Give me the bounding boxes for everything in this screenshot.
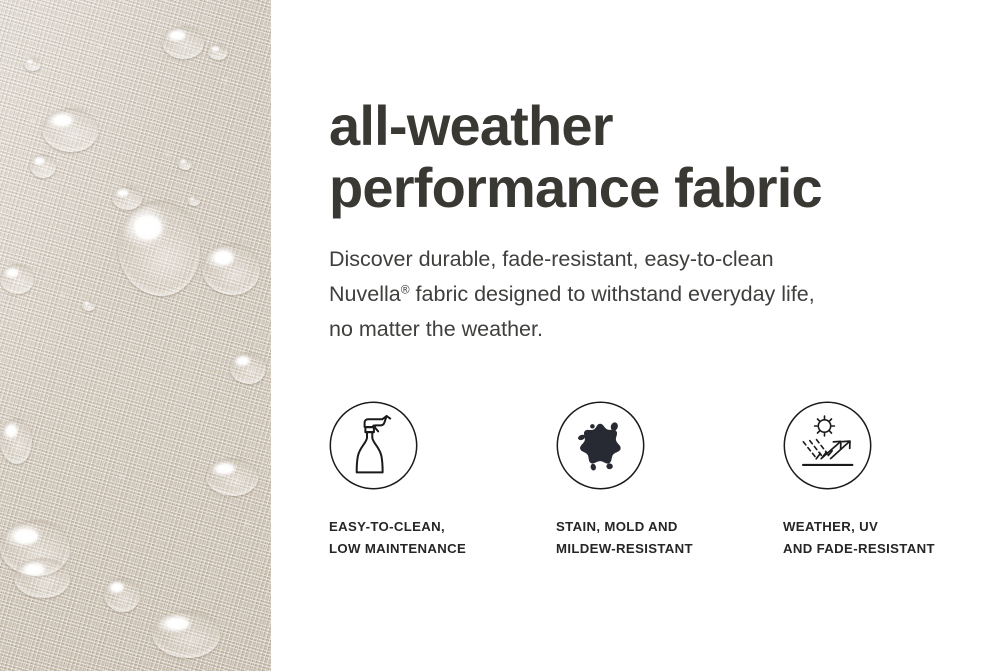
headline-line-1: all-weather — [329, 95, 989, 157]
spray-bottle-icon — [329, 401, 418, 490]
registered-mark: ® — [401, 282, 410, 296]
water-droplet — [202, 243, 260, 295]
feature-caption-line-2: LOW MAINTENANCE — [329, 538, 556, 559]
water-droplet — [14, 558, 70, 598]
feature-caption-line-1: STAIN, MOLD AND — [556, 516, 783, 537]
feature-list: EASY-TO-CLEAN, LOW MAINTENANCE — [329, 346, 989, 559]
water-droplet — [208, 44, 228, 60]
feature-caption: EASY-TO-CLEAN, LOW MAINTENANCE — [329, 490, 556, 559]
feature-stain-resistant: STAIN, MOLD AND MILDEW-RESISTANT — [556, 401, 783, 559]
water-droplet — [42, 108, 98, 152]
water-droplet — [206, 458, 258, 496]
feature-caption-line-2: AND FADE-RESISTANT — [783, 538, 1005, 559]
water-droplet-group — [0, 0, 271, 671]
headline-line-2: performance fabric — [329, 157, 989, 219]
fabric-water-beading-photo — [0, 0, 271, 671]
water-droplet — [0, 264, 34, 294]
subcopy-line-2: Nuvella® fabric designed to withstand ev… — [329, 277, 949, 312]
feature-caption: STAIN, MOLD AND MILDEW-RESISTANT — [556, 490, 783, 559]
feature-easy-to-clean: EASY-TO-CLEAN, LOW MAINTENANCE — [329, 401, 556, 559]
feature-weather-uv-resistant: WEATHER, UV AND FADE-RESISTANT — [783, 401, 1005, 559]
water-droplet — [82, 300, 95, 311]
water-droplet — [162, 26, 204, 59]
promo-content: all-weather performance fabric Discover … — [329, 0, 989, 671]
subcopy-line-1: Discover durable, fade-resistant, easy-t… — [329, 242, 949, 277]
subcopy-line-2-rest: fabric designed to withstand everyday li… — [410, 282, 815, 306]
water-droplet — [104, 578, 140, 612]
subcopy-line-3: no matter the weather. — [329, 312, 949, 347]
water-droplet — [178, 158, 192, 170]
water-droplet — [188, 196, 200, 206]
sun-uv-reflect-icon — [783, 401, 872, 490]
feature-caption: WEATHER, UV AND FADE-RESISTANT — [783, 490, 1005, 559]
promo-page: all-weather performance fabric Discover … — [0, 0, 1005, 671]
water-droplet — [152, 610, 220, 658]
water-droplet — [0, 418, 32, 464]
water-droplet — [30, 154, 56, 178]
stain-splat-icon — [556, 401, 645, 490]
water-droplet — [24, 58, 41, 71]
water-droplet — [118, 200, 200, 296]
feature-caption-line-2: MILDEW-RESISTANT — [556, 538, 783, 559]
subcopy: Discover durable, fade-resistant, easy-t… — [329, 220, 949, 346]
page-title: all-weather performance fabric — [329, 0, 989, 220]
water-droplet — [230, 352, 266, 384]
feature-caption-line-1: EASY-TO-CLEAN, — [329, 516, 556, 537]
feature-caption-line-1: WEATHER, UV — [783, 516, 1005, 537]
brand-name: Nuvella — [329, 282, 401, 306]
